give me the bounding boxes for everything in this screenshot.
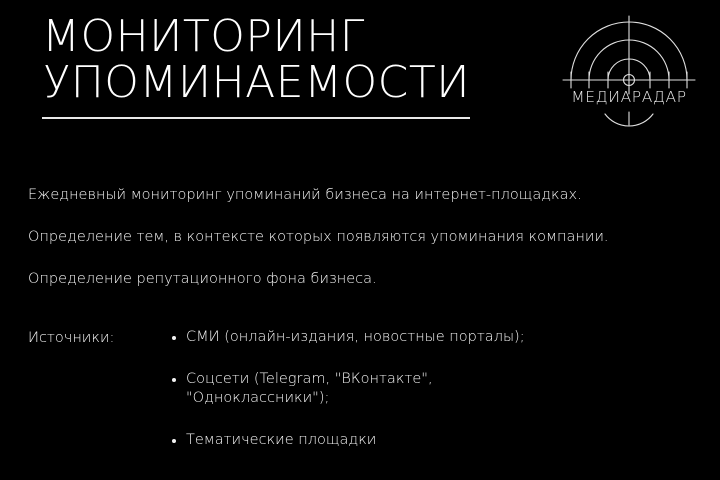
radar-icon: МЕДИАРАДАР bbox=[553, 8, 705, 128]
page-title: МОНИТОРИНГ УПОМИНАЕМОСТИ bbox=[42, 14, 470, 106]
bullet-icon bbox=[172, 439, 176, 443]
list-item: Соцсети (Telegram, "ВКонтакте", "Однокла… bbox=[172, 370, 688, 408]
source-text-line-1: Соцсети (Telegram, "ВКонтакте", bbox=[186, 370, 688, 389]
sources-label: Источники: bbox=[28, 328, 172, 348]
bullet-icon bbox=[172, 378, 176, 382]
paragraph-1: Ежедневный мониторинг упоминаний бизнеса… bbox=[28, 186, 688, 205]
list-item: СМИ (онлайн-издания, новостные порталы); bbox=[172, 328, 688, 347]
source-text-line-2: "Одноклассники"); bbox=[186, 389, 688, 408]
title-line-2: УПОМИНАЕМОСТИ bbox=[42, 60, 470, 106]
list-item: Тематические площадки bbox=[172, 431, 688, 450]
sources-list: СМИ (онлайн-издания, новостные порталы);… bbox=[172, 328, 688, 450]
brand-logo: МЕДИАРАДАР bbox=[553, 8, 705, 128]
source-text-line-1: Тематические площадки bbox=[186, 431, 688, 450]
slide-header: МОНИТОРИНГ УПОМИНАЕМОСТИ bbox=[0, 0, 720, 140]
paragraph-2: Определение тем, в контексте которых поя… bbox=[28, 228, 688, 247]
paragraph-3: Определение репутационного фона бизнеса. bbox=[28, 270, 688, 289]
logo-wordmark: МЕДИАРАДАР bbox=[571, 88, 686, 106]
title-line-1: МОНИТОРИНГ bbox=[42, 14, 470, 60]
body-paragraphs: Ежедневный мониторинг упоминаний бизнеса… bbox=[28, 186, 688, 289]
sources-section: Источники: СМИ (онлайн-издания, новостны… bbox=[28, 328, 688, 450]
title-divider bbox=[42, 117, 470, 119]
bullet-icon bbox=[172, 336, 176, 340]
source-text-line-1: СМИ (онлайн-издания, новостные порталы); bbox=[186, 328, 688, 347]
slide-root: МОНИТОРИНГ УПОМИНАЕМОСТИ bbox=[0, 0, 720, 480]
